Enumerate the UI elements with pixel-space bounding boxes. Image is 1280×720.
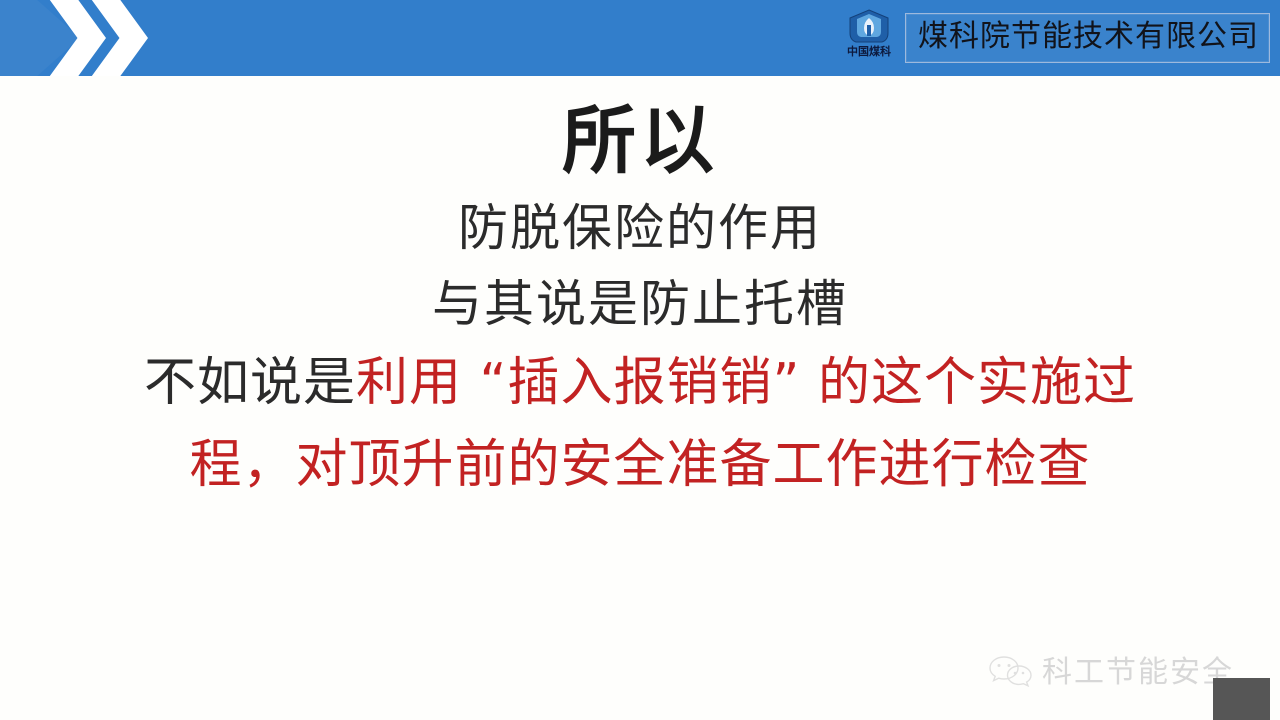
company-name-text: 煤科院节能技术有限公司: [918, 20, 1259, 54]
body-line-4-red-part: 程，对顶升前的安全准备工作进行检查: [189, 435, 1090, 495]
header-logo-group: 中国煤科 煤科院节能技术有限公司: [839, 6, 1270, 70]
watermark: 科工节能安全: [988, 654, 1234, 692]
page-title: 所以: [0, 76, 1280, 186]
emblem-caption: 中国煤科: [839, 45, 899, 58]
slide-content: 所以 防脱保险的作用 与其说是防止托槽 不如说是利用 “插入报销销” 的这个实施…: [0, 76, 1280, 720]
body-line-3: 不如说是利用 “插入报销销” 的这个实施过: [0, 342, 1280, 424]
body-line-3-red-part: 利用 “插入报销销” 的这个实施过: [356, 353, 1136, 413]
emblem-mark-svg: [847, 9, 891, 43]
body-line-1: 防脱保险的作用: [0, 190, 1280, 266]
corner-block: [1213, 678, 1270, 720]
company-name-box: 煤科院节能技术有限公司: [905, 13, 1270, 63]
wechat-icon: [988, 654, 1034, 692]
body-line-4: 程，对顶升前的安全准备工作进行检查: [0, 424, 1280, 506]
header-bar: 中国煤科 煤科院节能技术有限公司: [0, 0, 1280, 76]
slide-root: 中国煤科 煤科院节能技术有限公司 所以 防脱保险的作用 与其说是防止托槽 不如说…: [0, 0, 1280, 720]
body-line-2: 与其说是防止托槽: [0, 266, 1280, 342]
body-line-3-black-part: 不如说是: [144, 353, 356, 413]
watermark-text: 科工节能安全: [1042, 656, 1234, 690]
coal-science-emblem-icon: 中国煤科: [839, 7, 899, 69]
